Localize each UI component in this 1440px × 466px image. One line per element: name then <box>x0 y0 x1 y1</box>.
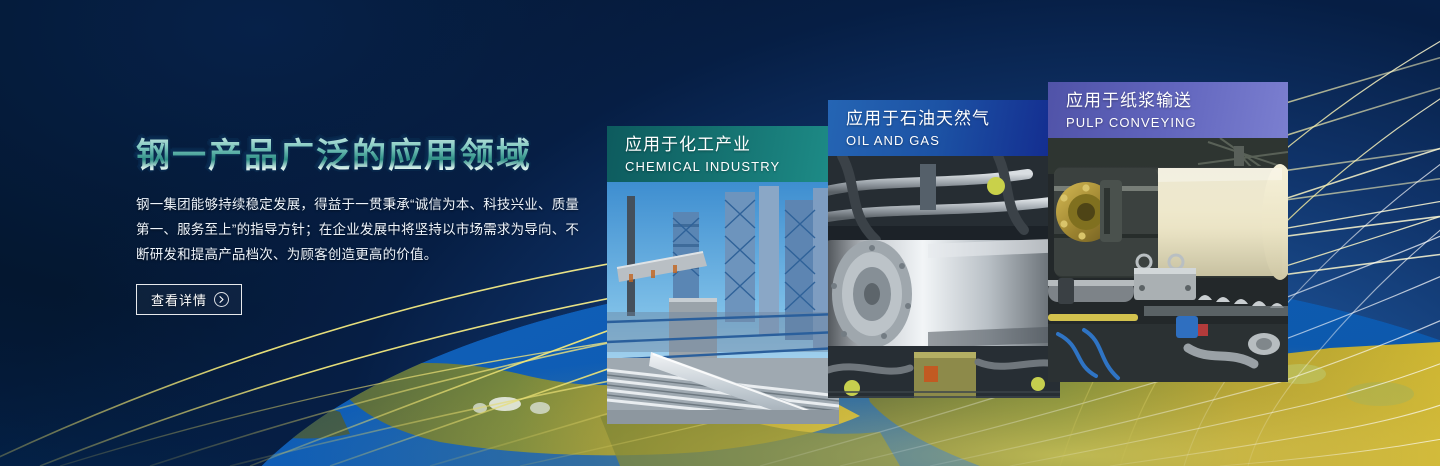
card-title-en: CHEMICAL INDUSTRY <box>625 157 839 176</box>
card-title-en: PULP CONVEYING <box>1066 113 1288 132</box>
view-details-button[interactable]: 查看详情 <box>136 284 242 315</box>
hero-banner: 钢一产品广泛的应用领域 钢一集团能够持续稳定发展，得益于一贯秉承“诚信为本、科技… <box>0 0 1440 466</box>
card-title-cn: 应用于化工产业 <box>625 133 839 157</box>
card-header-chemical: 应用于化工产业 CHEMICAL INDUSTRY <box>607 126 839 182</box>
application-card-oil-gas[interactable]: 应用于石油天然气 OIL AND GAS <box>828 100 1060 398</box>
application-card-chemical[interactable]: 应用于化工产业 CHEMICAL INDUSTRY <box>607 126 839 424</box>
card-title-cn: 应用于纸浆输送 <box>1066 89 1288 113</box>
card-title-cn: 应用于石油天然气 <box>846 107 1060 131</box>
application-card-pulp[interactable]: 应用于纸浆输送 PULP CONVEYING <box>1048 82 1288 382</box>
card-title-en: OIL AND GAS <box>846 131 1060 150</box>
hero-description: 钢一集团能够持续稳定发展，得益于一贯秉承“诚信为本、科技兴业、质量第一、服务至上… <box>136 192 588 267</box>
card-header-oil-gas: 应用于石油天然气 OIL AND GAS <box>828 100 1060 156</box>
page-title: 钢一产品广泛的应用领域 <box>136 134 606 178</box>
card-photo-chemical <box>607 182 839 424</box>
view-details-label: 查看详情 <box>151 290 207 309</box>
hero-text-block: 钢一产品广泛的应用领域 钢一集团能够持续稳定发展，得益于一贯秉承“诚信为本、科技… <box>136 134 606 315</box>
arrow-right-circle-icon <box>214 292 229 307</box>
card-photo-oil-gas <box>828 156 1060 398</box>
card-header-pulp: 应用于纸浆输送 PULP CONVEYING <box>1048 82 1288 138</box>
card-photo-pulp <box>1048 138 1288 382</box>
